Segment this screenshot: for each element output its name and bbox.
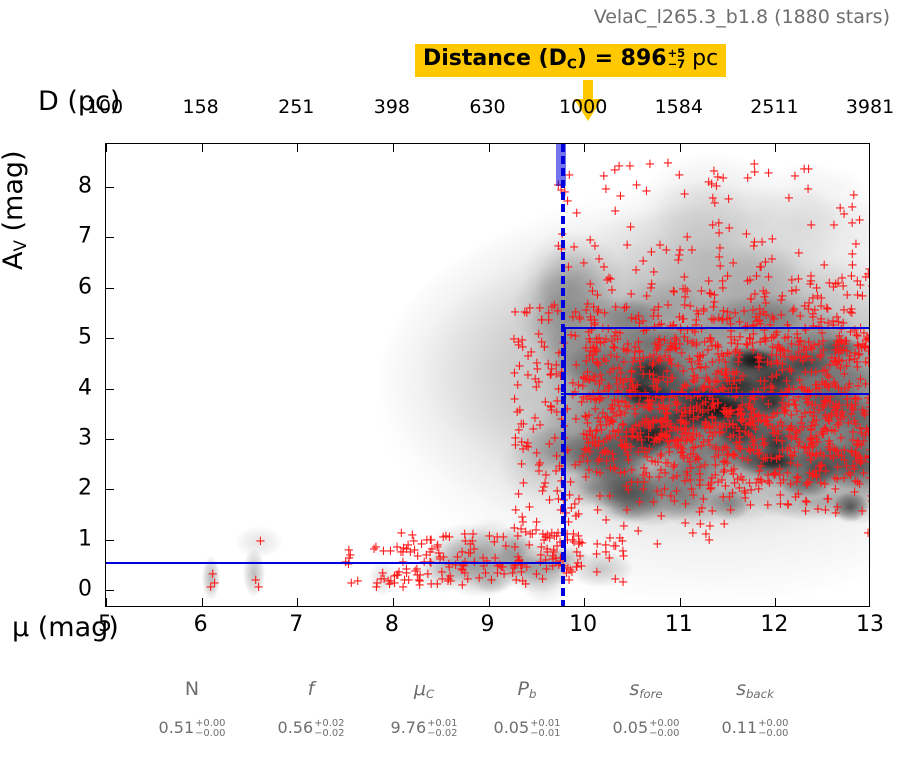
star-marker: + [826, 424, 837, 437]
star-marker: + [687, 434, 698, 447]
star-marker: + [545, 369, 556, 382]
star-marker: + [745, 499, 756, 512]
param-value: 0.51+0.00−0.00 [159, 718, 226, 739]
x-tick-label: 6 [194, 612, 208, 637]
bottom-tick [584, 598, 585, 606]
star-marker: + [723, 193, 734, 206]
star-marker: + [717, 426, 728, 439]
star-marker: + [571, 510, 582, 523]
star-marker: + [849, 324, 860, 337]
star-marker: + [767, 422, 778, 435]
star-marker: + [722, 270, 733, 283]
star-marker: + [432, 578, 443, 591]
star-marker: + [513, 424, 524, 437]
star-marker: + [793, 247, 804, 260]
star-marker: + [641, 290, 652, 303]
bottom-tick [680, 598, 681, 606]
star-marker: + [592, 504, 603, 517]
star-marker: + [698, 493, 709, 506]
star-marker: + [692, 350, 703, 363]
star-marker: + [609, 164, 620, 177]
star-marker: + [866, 490, 870, 503]
star-marker: + [665, 340, 676, 353]
star-marker: + [591, 425, 602, 438]
star-marker: + [709, 289, 720, 302]
star-marker: + [457, 579, 468, 592]
top-tick [202, 144, 203, 152]
star-marker: + [384, 578, 395, 591]
star-marker: + [652, 485, 663, 498]
star-marker: + [517, 511, 528, 524]
star-marker: + [829, 219, 840, 232]
star-marker: + [664, 355, 675, 368]
top-tick-label: 158 [182, 96, 218, 118]
star-marker: + [836, 355, 847, 368]
param-header: Pb [518, 678, 537, 701]
star-marker: + [645, 158, 656, 171]
star-marker: + [438, 531, 449, 544]
star-marker: + [759, 437, 770, 450]
param-header: sfore [629, 678, 662, 701]
x-tick-label: 7 [289, 612, 303, 637]
star-marker: + [656, 510, 667, 523]
star-marker: + [808, 320, 819, 333]
star-marker: + [811, 430, 822, 443]
param-value-number: 0.05 [613, 718, 649, 737]
star-marker: + [623, 454, 634, 467]
star-marker: + [762, 499, 773, 512]
star-marker: + [846, 303, 857, 316]
star-marker: + [255, 535, 266, 548]
y-tick-label: 1 [0, 526, 92, 551]
param-value-uncertainty: +0.00−0.00 [649, 719, 679, 739]
star-marker: + [571, 359, 582, 372]
star-marker: + [536, 336, 547, 349]
star-marker: + [668, 285, 679, 298]
star-marker: + [569, 241, 580, 254]
distance-unit-text: pc [692, 46, 718, 71]
star-marker: + [634, 420, 645, 433]
param-header-symbol: f [308, 678, 315, 700]
star-marker: + [806, 219, 817, 232]
star-marker: + [859, 341, 870, 354]
star-marker: + [615, 190, 626, 203]
star-marker: + [654, 239, 665, 252]
param-header-subscript: fore [639, 687, 662, 701]
star-marker: + [403, 574, 414, 587]
star-marker: + [743, 454, 754, 467]
y-tick-label: 0 [0, 577, 92, 602]
star-marker: + [830, 472, 841, 485]
bottom-tick [489, 598, 490, 606]
param-value-uncertainty: +0.00−0.00 [758, 719, 788, 739]
star-marker: + [699, 380, 710, 393]
param-value-uncertainty: +0.00−0.00 [195, 719, 225, 739]
star-marker: + [624, 160, 635, 173]
param-header-subscript: b [529, 687, 536, 701]
star-marker: + [700, 416, 711, 429]
x-tick-label: 9 [481, 612, 495, 637]
star-marker: + [842, 289, 853, 302]
bottom-tick [106, 598, 107, 606]
star-marker: + [524, 302, 535, 315]
star-marker: + [595, 369, 606, 382]
star-marker: + [675, 244, 686, 257]
y-axis-label-main: A [0, 252, 29, 270]
star-marker: + [703, 479, 714, 492]
star-marker: + [571, 413, 582, 426]
star-marker: + [745, 430, 756, 443]
star-marker: + [346, 577, 357, 590]
star-marker: + [631, 264, 642, 277]
param-value: 9.76+0.01−0.02 [391, 718, 458, 739]
star-marker: + [468, 528, 479, 541]
star-marker: + [621, 438, 632, 451]
x-tick-label: 10 [569, 612, 597, 637]
top-tick [584, 144, 585, 152]
star-marker: + [716, 348, 727, 361]
y-tick-label: 4 [0, 375, 92, 400]
star-marker: + [509, 367, 520, 380]
param-value-uncertainty: +0.01−0.01 [530, 719, 560, 739]
star-marker: + [590, 240, 601, 253]
star-marker: + [725, 504, 736, 517]
star-marker: + [734, 425, 745, 438]
star-marker: + [575, 550, 586, 563]
param-value: 0.05+0.01−0.01 [494, 718, 561, 739]
star-marker: + [662, 299, 673, 312]
star-marker: + [577, 537, 588, 550]
star-marker: + [828, 315, 839, 328]
star-marker: + [846, 270, 857, 283]
star-marker: + [677, 428, 688, 441]
star-marker: + [516, 458, 527, 471]
star-marker: + [728, 257, 739, 270]
star-marker: + [674, 169, 685, 182]
param-value: 0.56+0.02−0.02 [278, 718, 345, 739]
star-marker: + [518, 477, 529, 490]
star-marker: + [787, 450, 798, 463]
star-marker: + [725, 404, 736, 417]
star-marker: + [847, 217, 858, 230]
top-tick [775, 144, 776, 152]
star-marker: + [799, 163, 810, 176]
extinction-step-riser [564, 327, 566, 562]
param-value-uncertainty: +0.01−0.02 [427, 719, 457, 739]
y-tick [106, 288, 114, 289]
star-marker: + [768, 313, 779, 326]
star-marker: + [715, 242, 726, 255]
star-marker: + [755, 261, 766, 274]
star-marker: + [600, 445, 611, 458]
star-marker: + [801, 344, 812, 357]
param-value-number: 9.76 [391, 718, 427, 737]
y-tick [106, 590, 114, 591]
star-marker: + [800, 505, 811, 518]
star-marker: + [535, 419, 546, 432]
star-marker: + [604, 490, 615, 503]
plot-area: ++++++++++++++++++++++++++++++++++++++++… [105, 143, 870, 607]
star-marker: + [679, 188, 690, 201]
distance-prefix: Distance (D [423, 46, 567, 71]
param-err-dn: −0.00 [758, 729, 788, 739]
param-value-number: 0.51 [159, 718, 195, 737]
star-marker: + [622, 239, 633, 252]
star-marker: + [760, 332, 771, 345]
star-marker: + [774, 342, 785, 355]
distance-middle: ) = 896 [577, 46, 667, 71]
star-marker: + [604, 552, 615, 565]
star-marker: + [614, 362, 625, 375]
star-marker: + [704, 534, 715, 547]
bottom-tick [393, 598, 394, 606]
star-marker: + [802, 477, 813, 490]
star-marker: + [595, 337, 606, 350]
star-marker: + [707, 219, 718, 232]
top-tick-label: 1000 [559, 96, 607, 118]
distance-subscript: C [567, 56, 577, 72]
star-marker: + [513, 336, 524, 349]
star-marker: + [865, 422, 870, 435]
star-marker: + [600, 539, 611, 552]
star-marker: + [209, 577, 220, 590]
background-lower-line [561, 393, 870, 395]
star-marker: + [860, 271, 870, 284]
star-marker: + [863, 527, 870, 540]
star-marker: + [537, 485, 548, 498]
star-marker: + [566, 329, 577, 342]
star-marker: + [749, 411, 760, 424]
star-marker: + [652, 538, 663, 551]
star-marker: + [829, 376, 840, 389]
top-tick-label: 100 [87, 96, 123, 118]
star-marker: + [709, 384, 720, 397]
star-marker: + [820, 395, 831, 408]
star-marker: + [754, 356, 765, 369]
star-marker: + [803, 183, 814, 196]
top-tick [680, 144, 681, 152]
star-marker: + [570, 459, 581, 472]
star-marker: + [832, 501, 843, 514]
param-header-symbol: s [629, 678, 639, 700]
star-marker: + [719, 518, 730, 531]
param-header-symbol: s [736, 678, 746, 700]
star-marker: + [531, 447, 542, 460]
star-marker: + [644, 471, 655, 484]
top-tick [393, 144, 394, 152]
star-marker: + [500, 540, 511, 553]
star-marker: + [852, 289, 863, 302]
y-tick [106, 338, 114, 339]
star-marker: + [486, 574, 497, 587]
star-marker: + [631, 179, 642, 192]
star-marker: + [510, 306, 521, 319]
y-tick [106, 237, 114, 238]
param-err-dn: −0.02 [427, 729, 457, 739]
star-marker: + [598, 170, 609, 183]
param-value-number: 0.11 [722, 718, 758, 737]
y-tick [106, 540, 114, 541]
star-marker: + [709, 197, 720, 210]
star-marker: + [788, 303, 799, 316]
star-marker: + [739, 305, 750, 318]
foreground-extinction-line [106, 562, 561, 564]
star-marker: + [626, 288, 637, 301]
distance-err-dn: −7 [668, 59, 686, 71]
y-tick-label: 3 [0, 426, 92, 451]
y-tick [106, 389, 114, 390]
star-marker: + [647, 395, 658, 408]
star-marker: + [621, 504, 632, 517]
star-marker: + [531, 568, 542, 581]
star-marker: + [744, 398, 755, 411]
param-err-dn: −0.02 [314, 729, 344, 739]
star-marker: + [745, 274, 756, 287]
star-marker: + [791, 405, 802, 418]
x-tick-label: 8 [385, 612, 399, 637]
star-marker: + [594, 490, 605, 503]
star-marker: + [594, 253, 605, 266]
star-marker: + [665, 490, 676, 503]
star-marker: + [601, 183, 612, 196]
star-marker: + [783, 499, 794, 512]
star-marker: + [763, 167, 774, 180]
top-tick-label: 398 [374, 96, 410, 118]
star-marker: + [578, 257, 589, 270]
star-marker: + [687, 244, 698, 257]
star-marker: + [662, 157, 673, 170]
star-marker: + [545, 400, 556, 413]
bottom-tick [775, 598, 776, 606]
star-marker: + [568, 311, 579, 324]
top-tick [106, 144, 107, 152]
y-tick-label: 2 [0, 476, 92, 501]
star-marker: + [756, 476, 767, 489]
star-marker: + [527, 528, 538, 541]
star-marker: + [848, 189, 859, 202]
param-err-dn: −0.00 [195, 729, 225, 739]
top-tick-label: 3981 [846, 96, 894, 118]
y-tick [106, 489, 114, 490]
y-tick [106, 439, 114, 440]
bottom-tick [297, 598, 298, 606]
param-value: 0.05+0.00−0.00 [613, 718, 680, 739]
star-marker: + [724, 222, 735, 235]
star-marker: + [818, 450, 829, 463]
star-marker: + [509, 393, 520, 406]
star-marker: + [583, 409, 594, 422]
star-marker: + [618, 576, 629, 589]
param-err-dn: −0.00 [649, 729, 679, 739]
star-marker: + [533, 376, 544, 389]
param-header: μC [414, 678, 434, 701]
star-marker: + [591, 566, 602, 579]
top-tick-label: 630 [469, 96, 505, 118]
star-marker: + [767, 233, 778, 246]
star-marker: + [758, 453, 769, 466]
param-err-dn: −0.01 [530, 729, 560, 739]
star-marker: + [435, 553, 446, 566]
y-tick-label: 5 [0, 325, 92, 350]
star-marker: + [759, 291, 770, 304]
param-header-subscript: C [426, 687, 434, 701]
star-marker: + [613, 400, 624, 413]
x-tick-label: 13 [856, 612, 884, 637]
star-marker: + [253, 581, 264, 594]
star-marker: + [658, 371, 669, 384]
star-marker: + [835, 202, 846, 215]
star-marker: + [718, 466, 729, 479]
star-marker: + [782, 319, 793, 332]
star-marker: + [719, 369, 730, 382]
star-marker: + [812, 290, 823, 303]
star-marker: + [734, 351, 745, 364]
star-marker: + [855, 373, 866, 386]
distance-annotation: Distance (DC) = 896+5−7 pc [415, 44, 726, 77]
star-marker: + [489, 536, 500, 549]
background-upper-line [561, 327, 870, 329]
top-tick-label: 251 [278, 96, 314, 118]
param-header: N [185, 678, 199, 700]
star-marker: + [682, 231, 693, 244]
star-marker: + [749, 236, 760, 249]
y-tick-label: 7 [0, 224, 92, 249]
param-value-number: 0.56 [278, 718, 314, 737]
star-marker: + [660, 467, 671, 480]
star-marker: + [605, 462, 616, 475]
star-marker: + [853, 450, 864, 463]
star-marker: + [603, 272, 614, 285]
param-value-number: 0.05 [494, 718, 530, 737]
star-marker: + [541, 469, 552, 482]
star-marker: + [640, 446, 651, 459]
star-marker: + [864, 405, 870, 418]
star-marker: + [587, 285, 598, 298]
param-header-symbol: P [518, 678, 529, 700]
top-tick-label: 1584 [655, 96, 703, 118]
y-tick-label: 8 [0, 173, 92, 198]
star-marker: + [850, 475, 861, 488]
star-marker: + [634, 496, 645, 509]
y-axis-label: AV (mag) [0, 150, 30, 270]
scatter-markers: ++++++++++++++++++++++++++++++++++++++++… [106, 144, 869, 606]
star-marker: + [610, 540, 621, 553]
star-marker: + [727, 487, 738, 500]
star-marker: + [392, 541, 403, 554]
star-marker: + [857, 505, 868, 518]
star-marker: + [680, 291, 691, 304]
star-marker: + [686, 483, 697, 496]
star-marker: + [664, 446, 675, 459]
x-tick-label: 11 [665, 612, 693, 637]
star-marker: + [846, 399, 857, 412]
star-marker: + [735, 374, 746, 387]
top-tick [489, 144, 490, 152]
star-marker: + [828, 281, 839, 294]
star-marker: + [610, 205, 621, 218]
star-marker: + [633, 525, 644, 538]
x-tick-label: 12 [760, 612, 788, 637]
top-tick-label: 2511 [750, 96, 798, 118]
star-marker: + [625, 221, 636, 234]
star-marker: + [776, 294, 787, 307]
star-marker: + [799, 384, 810, 397]
star-marker: + [758, 306, 769, 319]
star-marker: + [567, 377, 578, 390]
star-marker: + [512, 379, 523, 392]
star-marker: + [799, 442, 810, 455]
star-marker: + [779, 407, 790, 420]
